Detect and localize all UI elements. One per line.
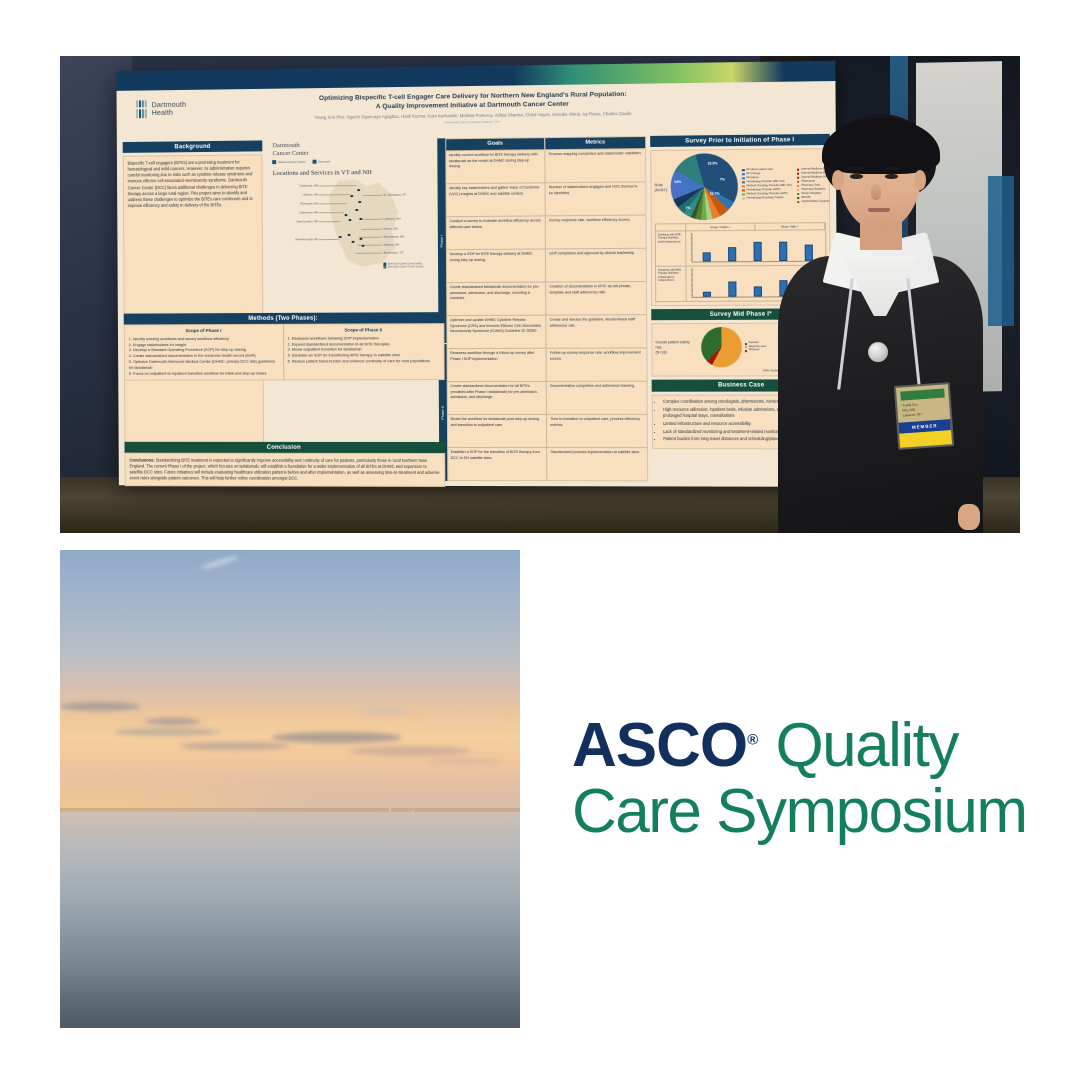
photo-collage: Dartmouth Health Optimizing Bispecific T… xyxy=(0,0,1080,1080)
eyebrow-right xyxy=(883,167,899,170)
pie-label-2: 14% xyxy=(674,180,681,184)
table-row: Identify current workflow for BiTE thera… xyxy=(446,148,645,183)
cloud xyxy=(416,716,511,725)
map-site-dot xyxy=(362,245,364,247)
map-label-left-1: Littleton, NH xyxy=(273,193,318,197)
conference-badge: Young Soo Rho, MD Lebanon, NH MEMBER xyxy=(894,382,954,450)
nose xyxy=(871,184,881,200)
phase-1-items: 1. Identify existing workflows and surve… xyxy=(129,335,279,376)
background-heading: Background xyxy=(123,140,263,153)
conclusion-heading: Conclusion xyxy=(124,442,445,453)
presenter-person: Young Soo Rho, MD Lebanon, NH MEMBER xyxy=(772,96,987,533)
map-label-left-2: Plymouth, NH xyxy=(273,202,318,206)
asco-quality-care-symposium-logo: ASCO® Quality Care Symposium xyxy=(572,716,1022,846)
table-row: Reassess workflow through a follow-up su… xyxy=(447,347,646,381)
phase-2-items: 1. Reassess workflows following SOP impl… xyxy=(288,335,440,365)
cell-metric: Survey response rate, workflow efficienc… xyxy=(545,215,646,248)
cloud xyxy=(60,702,140,711)
accreditation-logos: National Cancer Institute Dartmouth xyxy=(273,159,429,165)
poster-title-line-1: Optimizing Bispecific T-cell Engager Car… xyxy=(319,91,627,102)
cell-goal: Create standardized documentation for al… xyxy=(447,382,546,414)
survey-mid-question: Overall patient safety has... (N=18) xyxy=(655,340,698,355)
map-label-right-4: Nashua, NH xyxy=(384,243,400,247)
locations-block: Dartmouth Cancer Center National Cancer … xyxy=(267,138,434,271)
map-label-right-3: Manchester, NH xyxy=(384,235,405,239)
badge-line-3: Lebanon, NH xyxy=(903,412,922,417)
cloud xyxy=(360,708,410,715)
map-leader-5 xyxy=(319,239,339,240)
cell-goal: Conduct a survey to evaluate workflow ef… xyxy=(446,216,545,249)
dartmouth-shield-logo: Dartmouth xyxy=(313,160,330,164)
mid-question-line-1: Overall patient safety has... xyxy=(655,340,689,349)
map-site-dot xyxy=(348,234,350,236)
phase-1-label: Phase I xyxy=(439,235,443,247)
map-label-left-5: Peterborough, NH xyxy=(273,237,318,241)
ear-right xyxy=(914,170,926,190)
conclusion-section: Conclusion Conclusions: Standardizing Bi… xyxy=(124,442,445,487)
cell-goal: Identify key stakeholders and gather Voi… xyxy=(446,183,545,216)
poster-header: Dartmouth Health Optimizing Bispecific T… xyxy=(122,85,829,142)
pie-label-0: 32.7% xyxy=(710,192,720,196)
dartmouth-health-logo: Dartmouth Health xyxy=(122,93,241,118)
cell-metric: Time to transition to outpatient care, p… xyxy=(546,415,647,447)
map-site-dot xyxy=(352,241,354,243)
table-row: Model the workflow for tarlatamab post s… xyxy=(448,414,647,447)
cell-goal: Reassess workflow through a follow-up su… xyxy=(447,349,546,381)
cloud xyxy=(180,742,290,750)
legend-item: Worsened xyxy=(745,349,766,353)
phase-2-subheading: Scope of Phase II xyxy=(287,327,439,333)
registered-trademark-icon: ® xyxy=(747,731,758,748)
dcc-line-1: Dartmouth xyxy=(272,142,299,149)
poster-column-1: Background Bispecific T-cell engagers (B… xyxy=(123,140,265,480)
bar-row-label-0: Familiarity with BiTE Therapy Workflow: … xyxy=(656,232,687,266)
cloud xyxy=(145,718,200,725)
pie-role-label: Role (N=87) xyxy=(654,182,667,193)
lake-water xyxy=(60,812,520,1028)
eye-right xyxy=(885,174,898,179)
poster-title: Optimizing Bispecific T-cell Engager Car… xyxy=(241,90,706,114)
bar xyxy=(729,281,737,296)
bar-row-label-1: Familiarity with BiTE Therapy Workflow: … xyxy=(656,267,687,301)
cloud xyxy=(115,728,220,736)
table-row: Create standardized documentation for al… xyxy=(447,381,646,414)
goals-metrics-wrap: Phase I Phase II Goals Metrics Identify … xyxy=(437,136,648,481)
dartmouth-health-name: Dartmouth Health xyxy=(152,101,187,118)
cell-metric: Documentation completion and adherence t… xyxy=(546,382,647,414)
cloud xyxy=(350,746,470,756)
header-spacer xyxy=(707,85,830,87)
phase-2-item: 5. Reduce patient travel burden and enha… xyxy=(288,358,440,364)
cell-metric: SOP completion and approval by clinical … xyxy=(545,249,646,282)
table-row: Create standardized tarlatamab documenta… xyxy=(447,281,646,315)
mid-question-line-2: (N=18) xyxy=(655,350,666,354)
cell-metric: Process mapping completion and stakehold… xyxy=(545,149,646,182)
map-site-dot xyxy=(345,214,347,216)
cloud xyxy=(424,758,504,765)
bar xyxy=(754,286,762,296)
eyebrow-left xyxy=(848,167,864,170)
asco-brand-text: ASCO xyxy=(572,711,747,780)
conclusion-body: Standardizing BiTE treatment is expected… xyxy=(129,457,439,481)
dartmouth-cancer-center-name: Dartmouth Cancer Center xyxy=(272,140,429,157)
map-site-dot xyxy=(360,238,362,240)
patient-safety-pie-chart xyxy=(701,327,742,368)
map-legend-label-1: Dartmouth Cancer Center location xyxy=(388,265,424,268)
poster-column-2: Dartmouth Cancer Center National Cancer … xyxy=(267,138,435,480)
table-row: Develop a SOP for BiTE therapy delivery … xyxy=(447,248,646,282)
table-row: Optimize and update DHMC Cytokine Releas… xyxy=(447,314,646,348)
bar xyxy=(703,252,711,261)
phase-2-label: Phase II xyxy=(440,406,444,419)
table-row: Establish a SOP for the transition of Bi… xyxy=(448,447,647,480)
dartmouth-health-mark-icon xyxy=(136,100,149,118)
mid-pie-legend: Improved Stayed the same Worsened xyxy=(745,342,766,352)
role-label-line-2: (N=87) xyxy=(654,187,667,192)
poster-presentation-photo: Dartmouth Health Optimizing Bispecific T… xyxy=(60,56,1020,533)
vt-nh-map: Colebrook, NH Littleton, NH Plymouth, NH… xyxy=(273,179,430,272)
cell-goal: Optimize and update DHMC Cytokine Releas… xyxy=(447,316,546,348)
conclusion-label: Conclusions: xyxy=(129,457,154,462)
methods-phase-1: Scope of Phase I 1. Identify existing wo… xyxy=(125,325,283,379)
cell-goal: Model the workflow for tarlatamab post s… xyxy=(448,415,547,447)
bar xyxy=(754,242,762,261)
cell-metric: Creation of documentation in EPIC as dot… xyxy=(545,282,646,315)
poster-title-line-2: A Quality Improvement Initiative at Dart… xyxy=(376,101,569,110)
table-row: Conduct a survey to evaluate workflow ef… xyxy=(446,214,645,249)
hand xyxy=(958,504,980,530)
cell-goal: Create standardized tarlatamab documenta… xyxy=(447,282,546,315)
map-label-left-3: Claremont, NH xyxy=(273,210,318,214)
dcc-line-2: Cancer Center xyxy=(273,149,309,156)
bar xyxy=(703,291,711,296)
ear-left xyxy=(832,170,844,190)
cell-goal: Establish a SOP for the transition of Bi… xyxy=(448,448,547,480)
pie-label-3: 7% xyxy=(720,178,725,182)
map-label-right-1: Lebanon, NH xyxy=(383,217,400,221)
map-site-dot xyxy=(360,218,362,220)
pie-label-1: 18.9% xyxy=(707,162,717,166)
map-label-right-5: Bennington, VT xyxy=(384,251,404,255)
map-site-dot xyxy=(349,219,351,221)
nci-label: National Cancer Institute xyxy=(278,160,306,163)
cloud xyxy=(272,732,402,743)
map-label-left-0: Colebrook, NH xyxy=(273,184,318,188)
map-legend: Dartmouth Cancer Center facility Dartmou… xyxy=(383,262,424,268)
map-label-right-0: St. Johnsbury, VT xyxy=(383,193,406,197)
pendant xyxy=(868,342,888,362)
map-site-dot xyxy=(351,195,353,197)
map-legend-item-1: Dartmouth Cancer Center location xyxy=(383,265,424,268)
hair-front xyxy=(822,118,940,174)
background-blue-panel xyxy=(988,176,1014,326)
map-site-dot xyxy=(359,201,361,203)
bar xyxy=(729,247,737,261)
map-label-left-4: New London, NH xyxy=(273,219,318,223)
map-site-dot xyxy=(358,189,360,191)
cell-metric: Create and release the guideline. Monito… xyxy=(546,315,647,348)
sunset-lake-photo xyxy=(60,550,520,1028)
map-label-right-2: Keene, NH xyxy=(384,227,398,231)
phase-1-item: 6. Focus on outpatient-to-inpatient tran… xyxy=(129,370,279,376)
methods-phase-2: Scope of Phase II 1. Reassess workflows … xyxy=(283,324,444,379)
role-pie-chart: 32.7% 18.9% 14% 7% 7% xyxy=(671,153,739,220)
cell-metric: Number of stakeholders engaged and VOC t… xyxy=(545,182,646,215)
dartmouth-label: Dartmouth xyxy=(318,160,330,163)
legend-label: Worsened xyxy=(749,349,760,353)
badge-green-band xyxy=(900,389,945,401)
logo-line-2: Health xyxy=(152,108,173,117)
conclusion-text: Conclusions: Standardizing BiTE treatmen… xyxy=(125,453,446,487)
badge-yellow-band xyxy=(899,430,952,448)
mouth xyxy=(868,208,890,212)
badge-name-text: Young Soo Rho, MD Lebanon, NH xyxy=(902,400,946,417)
cell-metric: Standardized process implementation at s… xyxy=(546,448,647,480)
asco-logo-line-2: Care Symposium xyxy=(572,782,1022,842)
asco-logo-line-1: ASCO® Quality xyxy=(572,716,1022,776)
phase-1-subheading: Scope of Phase I xyxy=(129,328,279,334)
phase-1-item: 5. Optimize Dartmouth Hitchcock Medical … xyxy=(129,359,279,371)
eye-left xyxy=(850,174,863,179)
table-row: Identify key stakeholders and gather Voi… xyxy=(446,181,645,216)
map-site-dot xyxy=(356,209,358,211)
nci-logo: National Cancer Institute xyxy=(273,160,306,164)
cell-metric: Follow-up survey response rate, workflow… xyxy=(546,348,647,380)
research-poster: Dartmouth Health Optimizing Bispecific T… xyxy=(116,61,838,487)
map-site-dot xyxy=(339,236,341,238)
goals-metrics-table: Goals Metrics Identify current workflow … xyxy=(445,136,648,481)
pie-label-4: 7% xyxy=(685,206,690,210)
poster-column-3: Phase I Phase II Goals Metrics Identify … xyxy=(437,136,648,481)
cell-goal: Develop a SOP for BiTE therapy delivery … xyxy=(447,249,546,282)
methods-section: Methods (Two Phases): Scope of Phase I 1… xyxy=(124,312,445,380)
cell-goal: Identify current workflow for BiTE thera… xyxy=(446,150,545,183)
locations-heading: Locations and Services in VT and NH xyxy=(273,169,430,178)
asco-logo-quality-text: Quality xyxy=(775,711,957,780)
